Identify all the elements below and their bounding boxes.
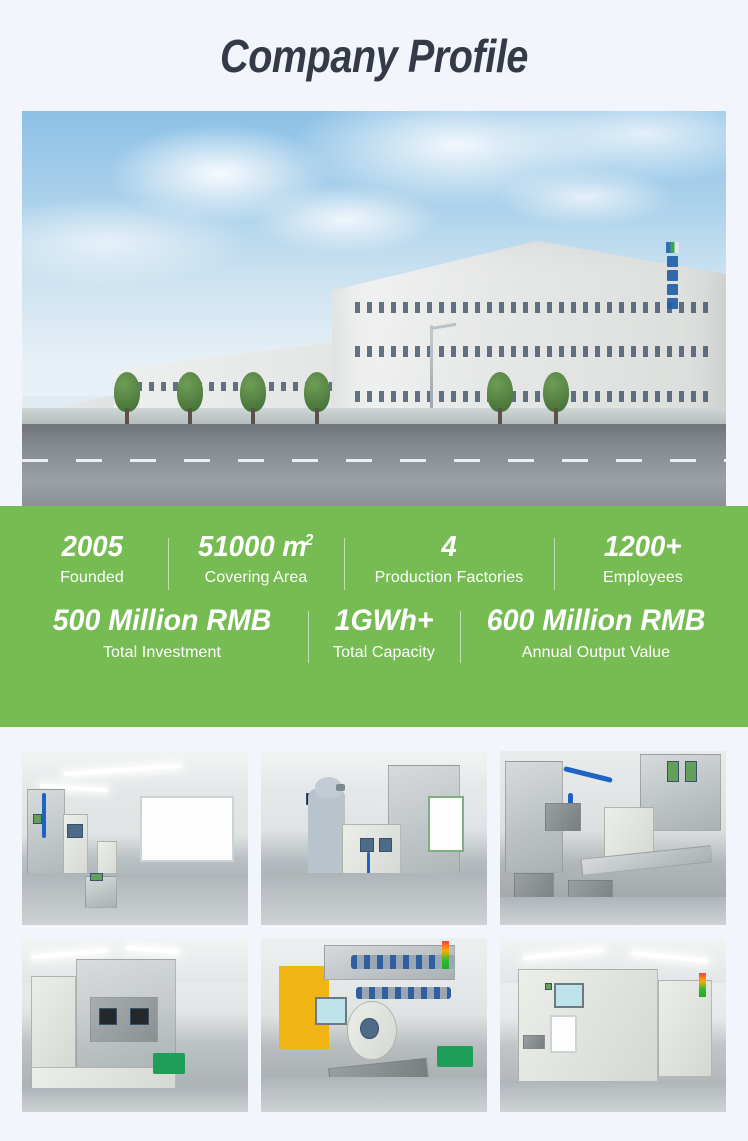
tree [177,372,203,428]
signage-character [667,298,678,309]
hmi-screen [554,983,583,1007]
window-band [355,302,710,313]
window-band [355,391,710,402]
stats-row-primary: 2005 Founded 51000 m2 Covering Area 4 Pr… [0,506,748,587]
gallery-image-assembly-line-enclosure [22,938,248,1112]
stats-row-secondary: 500 Million RMB Total Investment 1GWh+ T… [0,587,748,662]
superscript-two: 2 [305,532,313,549]
tree [487,372,513,428]
stat-founded: 2005 Founded [16,532,168,587]
building-signage [665,242,680,334]
stat-label: Production Factories [375,569,524,587]
status-light-tower [442,941,449,969]
green-parts-bin [437,1046,473,1067]
stat-employees: 1200+ Employees [554,532,732,587]
gallery-image-technician-operating-coating-machine [261,751,487,925]
stat-value: 600 Million RMB [487,605,706,637]
stat-production-factories: 4 Production Factories [344,532,554,587]
stat-label: Employees [603,569,683,587]
stat-value: 4 [441,532,456,562]
stat-label: Founded [60,569,124,587]
stat-label: Covering Area [205,569,308,587]
document-holder [428,796,464,852]
stat-value: 1200+ [604,532,681,562]
signage-character [667,284,678,295]
stat-covering-area: 51000 m2 Covering Area [168,532,344,587]
tree [304,372,330,428]
testing-cabinet-front [518,969,658,1084]
gallery-image-winding-machine-production-line [261,938,487,1112]
facility-gallery [22,751,726,1112]
gallery-image-formation-testing-cabinets [500,938,726,1112]
document-sheet [550,1015,577,1053]
hmi-screen [315,997,347,1025]
tree [114,372,140,428]
company-profile-page: Company Profile [0,0,748,1141]
page-title: Company Profile [220,29,528,83]
stat-value: 1GWh+ [335,605,434,637]
street-lamp [430,325,433,420]
stat-annual-output-value: 600 Million RMB Annual Output Value [460,605,732,662]
gallery-image-clean-room-mixing-equipment [22,751,248,925]
signage-character [667,256,678,267]
company-logo-icon [666,242,679,253]
hero-image-building [22,111,726,507]
gallery-image-automated-stacking-equipment [500,751,726,925]
roller-bank-mid [356,987,451,999]
page-title-container: Company Profile [0,0,748,111]
road [22,424,726,507]
green-parts-bin [153,1053,185,1074]
whiteboard [140,796,235,862]
stat-value: 51000 m2 [198,532,313,562]
window-band [355,346,710,357]
status-light-tower [699,973,706,997]
tree [543,372,569,428]
stat-label: Total Capacity [333,644,435,662]
gallery-row-1 [22,751,726,925]
gallery-row-2 [22,938,726,1112]
stat-total-investment: 500 Million RMB Total Investment [16,605,308,662]
line-cabinet-left [31,976,76,1073]
roller-bank-top [351,955,455,969]
stat-value: 2005 [61,532,122,562]
signage-character [667,270,678,281]
stat-label: Annual Output Value [522,644,670,662]
stat-total-capacity: 1GWh+ Total Capacity [308,605,460,662]
stats-band: 2005 Founded 51000 m2 Covering Area 4 Pr… [0,506,748,727]
technician-visor [336,784,345,791]
stat-value: 500 Million RMB [53,605,272,637]
tree [240,372,266,428]
stat-label: Total Investment [103,644,221,662]
